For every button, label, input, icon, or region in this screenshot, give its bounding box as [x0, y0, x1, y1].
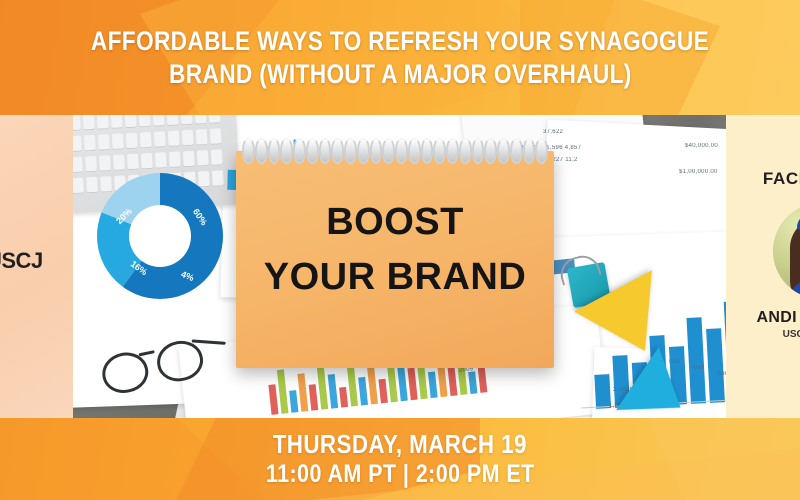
amount-label: $1,00,000.00: [679, 169, 718, 175]
spreadsheet-row: 37,622: [543, 129, 563, 135]
bar: [468, 371, 477, 394]
keyboard-key: [100, 176, 112, 193]
notepad: BOOST YOUR BRAND: [236, 141, 554, 368]
keyboard-key: [126, 133, 138, 150]
keyboard-key: [196, 129, 208, 146]
bar: [706, 328, 725, 403]
keyboard-key: [169, 151, 181, 168]
bar: [378, 379, 387, 404]
bar: [277, 369, 289, 413]
spiral-coil: [484, 138, 497, 164]
spiral-coil: [382, 138, 395, 164]
keyboard-key: [83, 115, 95, 130]
keyboard-key: [155, 152, 167, 169]
bar: [309, 384, 319, 411]
spiral-coil: [433, 138, 446, 164]
keyboard-key: [183, 151, 195, 168]
keyboard-key: [195, 115, 207, 125]
bar: [358, 377, 368, 406]
keyboard-key: [211, 149, 223, 166]
facilitator-label: FACILITATOR: [726, 169, 800, 189]
keyboard-key: [113, 154, 125, 171]
spiral-coil: [242, 138, 255, 164]
facilitator-role: USCJ Marketing: [726, 329, 800, 340]
keyboard-key: [127, 154, 139, 171]
spiral-coil: [280, 138, 293, 164]
event-details: THURSDAY, MARCH 19 11:00 AM PT | 2:00 PM…: [0, 418, 800, 500]
spiral-coil: [331, 138, 344, 164]
bar: [328, 374, 339, 409]
bar: [289, 390, 298, 413]
amount-label: $40,000.00: [685, 143, 718, 149]
keyboard-key: [210, 128, 222, 145]
spiral-coil: [370, 138, 383, 164]
webinar-promo-graphic: AFFORDABLE WAYS TO REFRESH YOUR SYNAGOGU…: [0, 0, 800, 500]
spiral-coil: [344, 138, 357, 164]
spiral-coil: [357, 138, 370, 164]
keyboard-key: [73, 136, 82, 153]
keyboard-key: [139, 115, 151, 128]
keyboard-key: [167, 115, 179, 126]
donut-chart: [97, 173, 223, 299]
bar: [407, 368, 417, 401]
keyboard-key: [73, 157, 83, 174]
keyboard-key: [209, 115, 221, 124]
facilitator-block: FACILITATOR ANDI EDWARDS USCJ Marketing: [726, 115, 800, 418]
keyboard-key: [112, 133, 124, 150]
bar: [347, 364, 358, 407]
spiral-coil: [497, 138, 510, 164]
keyboard-key: [99, 155, 111, 172]
spiral-coil: [319, 138, 332, 164]
spiral-coil: [255, 138, 268, 164]
event-date: THURSDAY, MARCH 19: [273, 429, 527, 459]
bar: [428, 372, 438, 399]
facilitator-name: ANDI EDWARDS: [726, 309, 800, 327]
keyboard-key: [73, 178, 84, 195]
keyboard-key: [125, 115, 137, 128]
spiral-coil: [306, 138, 319, 164]
keyboard-key: [84, 135, 96, 152]
spiral-coil: [523, 138, 536, 164]
page-title: AFFORDABLE WAYS TO REFRESH YOUR SYNAGOGU…: [0, 0, 800, 115]
spiral-coil: [459, 138, 472, 164]
keyboard-key: [168, 130, 180, 147]
spiral-coil: [421, 138, 434, 164]
bar: [339, 387, 348, 408]
notepad-line-2: YOUR BRAND: [236, 250, 554, 305]
lens: [153, 337, 206, 386]
keyboard-key: [98, 134, 110, 151]
spiral-coil: [446, 138, 459, 164]
bar: [316, 361, 328, 409]
keyboard-key: [111, 115, 123, 129]
bar: [387, 366, 398, 403]
spiral-coil: [472, 138, 485, 164]
title-line-2: BRAND (WITHOUT A MAJOR OVERHAUL): [169, 58, 632, 91]
event-time: 11:00 AM PT | 2:00 PM ET: [266, 459, 535, 489]
bar: [297, 373, 308, 412]
spiral-coil: [510, 138, 523, 164]
keyboard-key: [97, 115, 109, 130]
keyboard-key: [140, 132, 152, 149]
spiral-coil: [535, 138, 548, 164]
keyboard-key: [153, 115, 165, 127]
notepad-text: BOOST YOUR BRAND: [236, 195, 554, 305]
axis-tick-label: Apr: [717, 371, 726, 378]
avatar: [773, 203, 800, 299]
title-line-1: AFFORDABLE WAYS TO REFRESH YOUR SYNAGOGU…: [91, 25, 709, 58]
spiral-coil: [268, 138, 281, 164]
keyboard-key: [198, 171, 210, 188]
lens: [99, 348, 152, 397]
keyboard-key: [86, 177, 98, 194]
spiral-coil: [293, 138, 306, 164]
keyboard-key: [154, 131, 166, 148]
keyboard-key: [73, 115, 81, 131]
spiral-coil: [395, 138, 408, 164]
spiral-binding: [242, 138, 548, 160]
keyboard-key: [197, 150, 209, 167]
bridge: [139, 350, 155, 356]
bar: [447, 365, 457, 396]
spiral-coil: [408, 138, 421, 164]
keyboard-key: [85, 156, 97, 173]
keyboard-key: [182, 130, 194, 147]
keyboard-key: [141, 153, 153, 170]
uscj-logo: USCJ: [0, 248, 43, 274]
notepad-line-1: BOOST: [236, 195, 554, 250]
keyboard-key: [212, 170, 224, 187]
keyboard-key: [181, 115, 193, 125]
